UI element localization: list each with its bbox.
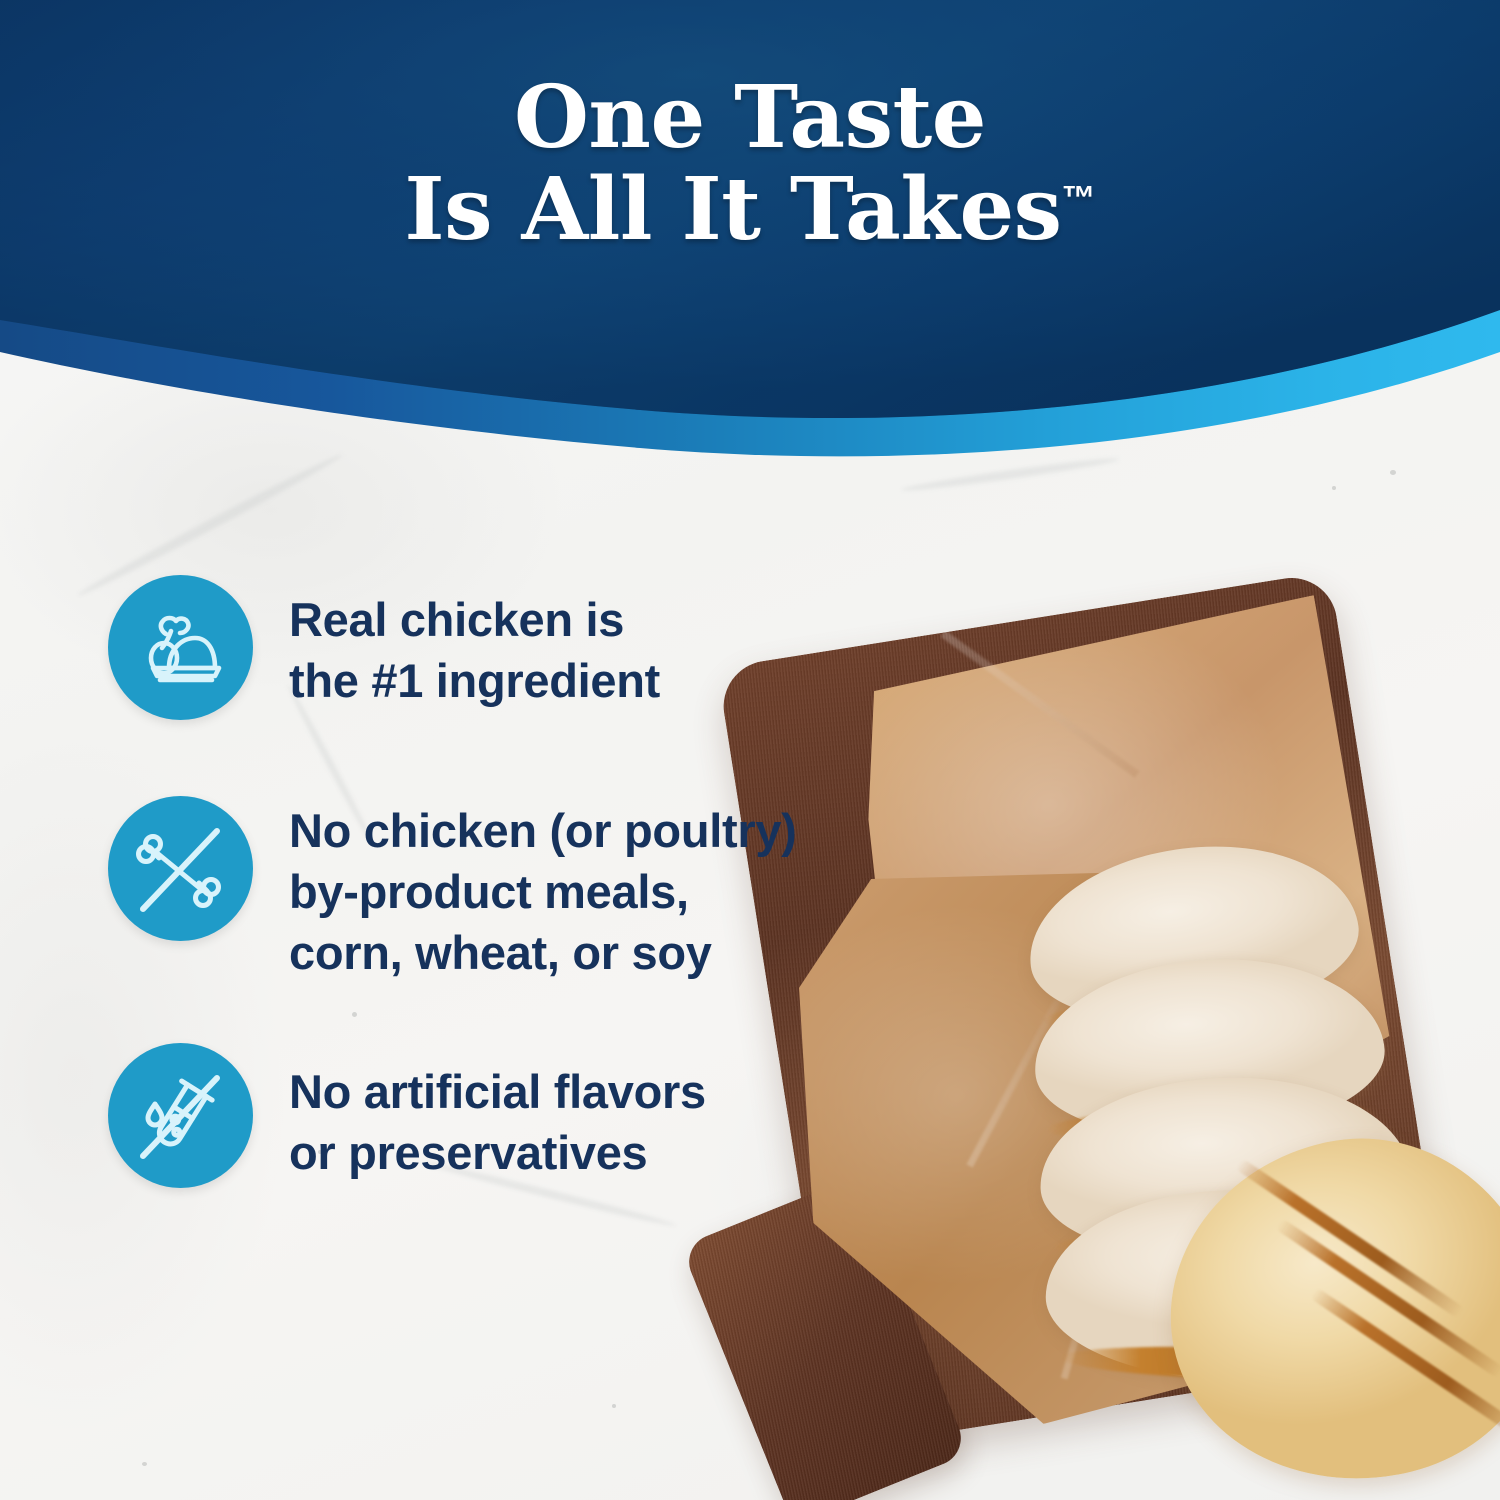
benefit-2-line-1: No chicken (or poultry) (289, 800, 797, 861)
benefit-3-line-2: or preservatives (289, 1122, 706, 1183)
benefit-1-line-1: Real chicken is (289, 589, 660, 650)
benefit-2-line-3: corn, wheat, or soy (289, 922, 797, 983)
benefit-text-real-chicken: Real chicken is the #1 ingredient (289, 575, 660, 711)
roast-chicken-platter-icon (108, 575, 253, 720)
benefit-2-line-2: by-product meals, (289, 861, 797, 922)
product-benefits-graphic: One Taste Is All It Takes™ (0, 0, 1500, 1500)
benefit-item-real-chicken: Real chicken is the #1 ingredient (108, 575, 888, 720)
header-banner: One Taste Is All It Takes™ (0, 0, 1500, 470)
benefit-3-line-1: No artificial flavors (289, 1061, 706, 1122)
benefits-list: Real chicken is the #1 ingredient (108, 575, 888, 1188)
benefit-1-line-2: the #1 ingredient (289, 650, 660, 711)
header-curve-shape (0, 0, 1500, 470)
benefit-text-no-artificial: No artificial flavors or preservatives (289, 1043, 706, 1183)
benefit-text-no-byproducts: No chicken (or poultry) by-product meals… (289, 796, 797, 983)
no-bone-icon (108, 796, 253, 941)
benefit-item-no-artificial: No artificial flavors or preservatives (108, 1043, 888, 1188)
no-test-tube-icon (108, 1043, 253, 1188)
benefit-item-no-byproducts: No chicken (or poultry) by-product meals… (108, 796, 888, 983)
chicken-slices (1020, 840, 1500, 1480)
